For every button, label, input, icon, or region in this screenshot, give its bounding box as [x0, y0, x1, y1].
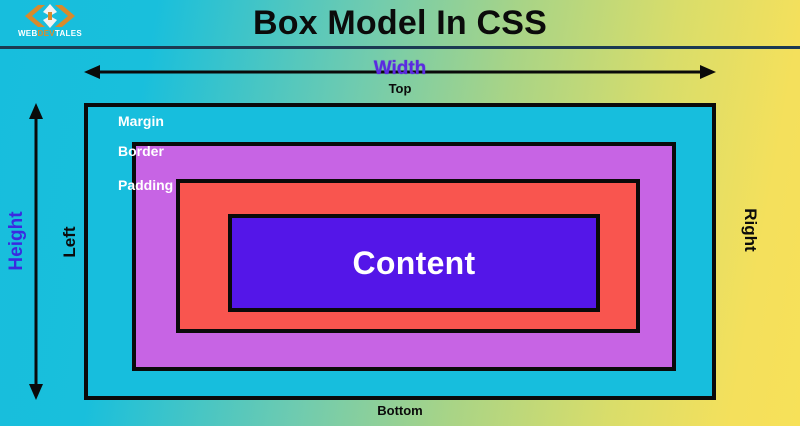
content-label: Content [353, 245, 476, 282]
chevron-diamond-icon [22, 3, 78, 29]
padding-label: Padding [118, 177, 173, 193]
site-logo[interactable]: WEBDEVTALES [8, 2, 92, 44]
border-label: Border [118, 143, 164, 159]
top-side-label: Top [0, 81, 800, 96]
header-band: Box Model In CSS WEBDEVTALES [0, 0, 800, 48]
logo-text-left: WEB [18, 29, 38, 38]
box-model-diagram: Box Model In CSS WEBDEVTALES Width Top H… [0, 0, 800, 426]
right-side-label: Right [740, 184, 760, 276]
header-divider [0, 46, 800, 49]
logo-text-accent: DEV [38, 29, 55, 38]
page-title: Box Model In CSS [0, 0, 800, 46]
left-side-label: Left [60, 196, 80, 288]
logo-wordmark: WEBDEVTALES [8, 29, 92, 38]
height-label: Height [6, 191, 28, 291]
border-box[interactable]: Content [132, 142, 676, 371]
bottom-side-label: Bottom [0, 403, 800, 418]
logo-text-right: TALES [55, 29, 82, 38]
height-arrow-icon [27, 103, 45, 400]
margin-label: Margin [118, 113, 164, 129]
content-box[interactable]: Content [228, 214, 600, 312]
padding-box[interactable]: Content [176, 179, 640, 333]
width-label: Width [0, 58, 800, 80]
margin-box[interactable]: Content [84, 103, 716, 400]
